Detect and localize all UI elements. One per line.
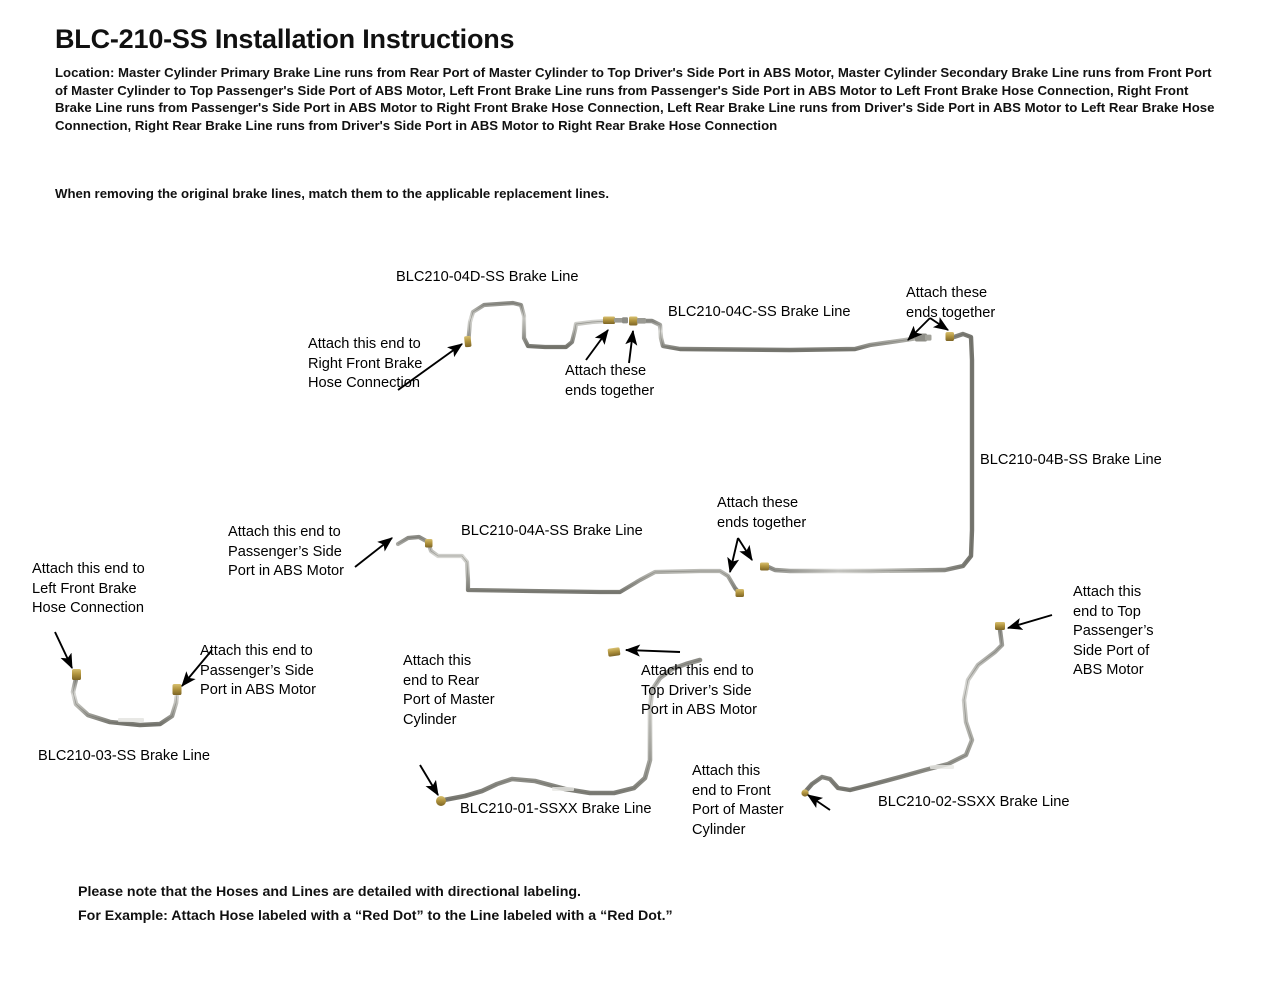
brake-line-diagram [0, 0, 1280, 989]
fitting-04b-top [946, 332, 955, 341]
brake-line-04a [398, 537, 744, 597]
fitting-04c-right [915, 334, 932, 342]
label-line-04b: BLC210-04B-SS Brake Line [980, 451, 1162, 471]
fitting-04a-left [425, 539, 433, 548]
callout-passenger-abs-04a: Attach this end to Passenger’s Side Port… [228, 523, 344, 582]
fitting-01-right [608, 647, 621, 657]
callout-ends-together-mid: Attach these ends together [717, 494, 806, 533]
arrow-top-driver-abs [626, 650, 680, 652]
arrow-ends-together-top-mid-a [586, 330, 608, 360]
callout-ends-together-top-right: Attach these ends together [906, 284, 995, 323]
callout-left-front-hose: Attach this end to Left Front Brake Hose… [32, 560, 145, 619]
brake-line-04d [464, 303, 628, 347]
callout-arrows [55, 318, 1052, 810]
diagram-svg [0, 0, 1280, 989]
fitting-03-right [173, 684, 182, 695]
brake-line-02 [801, 622, 1005, 797]
callout-top-driver-abs: Attach this end to Top Driver’s Side Por… [641, 662, 757, 721]
callout-rear-port-master: Attach this end to Rear Port of Master C… [403, 652, 495, 730]
label-line-04c: BLC210-04C-SS Brake Line [668, 303, 851, 323]
arrow-ends-together-mid-a [730, 538, 738, 572]
brake-line-04b [760, 332, 972, 571]
footer-note-2: For Example: Attach Hose labeled with a … [78, 904, 673, 928]
label-line-02: BLC210-02-SSXX Brake Line [878, 793, 1069, 813]
brake-line-03 [72, 669, 182, 725]
arrow-ends-together-top-mid-b [629, 331, 633, 363]
fitting-04d-right [603, 317, 628, 325]
label-line-03: BLC210-03-SS Brake Line [38, 747, 210, 767]
callout-ends-together-top-mid: Attach these ends together [565, 362, 654, 401]
fitting-02-bottom [801, 789, 808, 796]
callout-top-passenger-abs: Attach this end to Top Passenger’s Side … [1073, 583, 1154, 681]
label-line-04d: BLC210-04D-SS Brake Line [396, 268, 579, 288]
arrow-ends-together-mid-b [738, 538, 752, 560]
fitting-02-top [995, 622, 1005, 630]
fitting-01-left [436, 796, 446, 806]
arrow-front-port-master [808, 795, 830, 810]
arrow-top-passenger-abs [1008, 615, 1052, 628]
fitting-04a-right [736, 589, 745, 597]
label-line-04a: BLC210-04A-SS Brake Line [461, 522, 643, 542]
callout-passenger-abs-03: Attach this end to Passenger’s Side Port… [200, 642, 316, 701]
footer-notes: Please note that the Hoses and Lines are… [78, 880, 673, 928]
installation-instructions-page: BLC-210-SS Installation Instructions Loc… [0, 0, 1280, 989]
fitting-04c-left [629, 317, 646, 326]
arrow-left-front-hose [55, 632, 72, 668]
fitting-03-left [72, 669, 81, 680]
footer-note-1: Please note that the Hoses and Lines are… [78, 880, 673, 904]
callout-front-port-master: Attach this end to Front Port of Master … [692, 762, 784, 840]
arrow-rear-port-master [420, 765, 438, 795]
label-line-01: BLC210-01-SSXX Brake Line [460, 800, 651, 820]
arrow-passenger-abs-04a [355, 538, 392, 567]
fitting-04d-left [464, 336, 472, 348]
fitting-04b-bottom [760, 563, 769, 571]
callout-right-front-hose: Attach this end to Right Front Brake Hos… [308, 335, 422, 394]
